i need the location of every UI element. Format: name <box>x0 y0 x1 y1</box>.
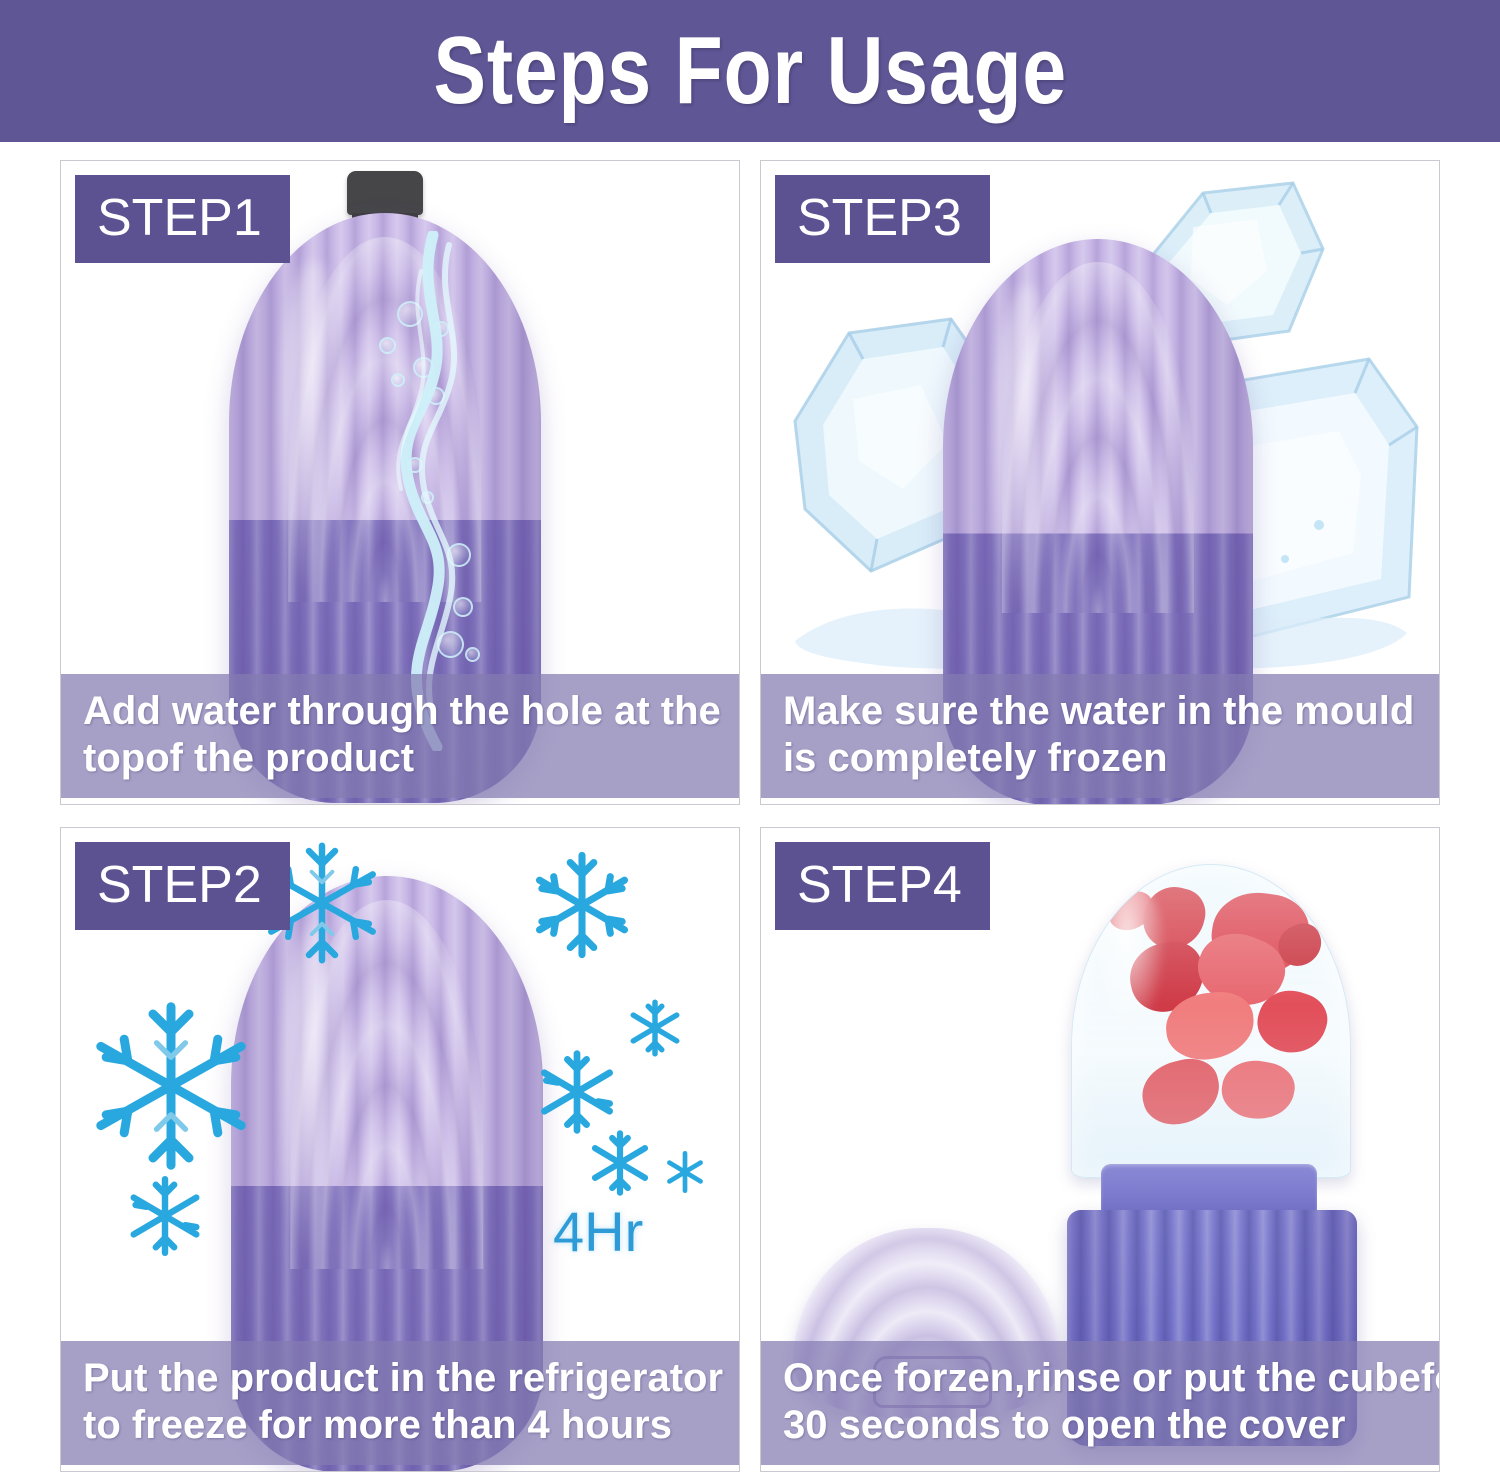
snowflake-icon <box>659 1146 711 1198</box>
step-caption-1-line2: topof the product <box>83 735 717 782</box>
step-caption-3-line1: Make sure the water in the mould <box>783 688 1417 735</box>
step-card-4: STEP4 Once forzen,rinse or put the cubef… <box>760 827 1440 1472</box>
step-caption-2: Put the product in the refrigerator to f… <box>61 1341 739 1465</box>
step-caption-4: Once forzen,rinse or put the cubefor 30 … <box>761 1341 1439 1465</box>
step-caption-2-line1: Put the product in the refrigerator <box>83 1355 717 1402</box>
step-badge-3: STEP3 <box>775 175 990 263</box>
mould-cap-icon <box>347 171 423 215</box>
bubble-icon <box>447 543 471 567</box>
step-caption-4-line1: Once forzen,rinse or put the cubefor <box>783 1355 1417 1402</box>
step-caption-2-line2: to freeze for more than 4 hours <box>83 1402 717 1449</box>
step-badge-4: STEP4 <box>775 842 990 930</box>
step-card-2: 4Hr STEP2 Put the product in the refrige… <box>60 827 740 1472</box>
bubble-icon <box>397 301 423 327</box>
snowflake-icon <box>621 994 689 1062</box>
snowflake-icon <box>581 1124 659 1202</box>
step-badge-1: STEP1 <box>75 175 290 263</box>
step-caption-1-line1: Add water through the hole at the <box>83 688 717 735</box>
step-caption-3: Make sure the water in the mould is comp… <box>761 674 1439 798</box>
step-card-3: STEP3 Make sure the water in the mould i… <box>760 160 1440 805</box>
bubble-icon <box>453 597 473 617</box>
bubble-icon <box>413 357 434 378</box>
bubble-icon <box>427 387 445 405</box>
bubble-icon <box>421 491 434 504</box>
bubble-icon <box>465 647 480 662</box>
mould-highlight <box>993 284 1061 612</box>
step-badge-2: STEP2 <box>75 842 290 930</box>
page-header: Steps For Usage <box>0 0 1500 142</box>
freeze-time-label: 4Hr <box>553 1204 643 1260</box>
step-card-1: STEP1 Add water through the hole at the … <box>60 160 740 805</box>
ice-highlight <box>1100 884 1167 1040</box>
page-title: Steps For Usage <box>433 21 1066 121</box>
step-caption-4-line2: 30 seconds to open the cover <box>783 1402 1417 1449</box>
snowflake-icon <box>119 1170 211 1262</box>
step-caption-3-line2: is completely frozen <box>783 735 1417 782</box>
steps-grid: STEP1 Add water through the hole at the … <box>0 142 1500 1472</box>
snowflake-icon <box>81 996 261 1176</box>
frozen-petal-ice-dome <box>1071 864 1351 1178</box>
bubble-icon <box>433 321 449 337</box>
bubble-icon <box>391 373 405 387</box>
bubble-icon <box>437 631 464 658</box>
snowflake-icon <box>523 846 641 964</box>
step-caption-1: Add water through the hole at the topof … <box>61 674 739 798</box>
bubble-icon <box>379 337 396 354</box>
mould-highlight <box>279 260 348 602</box>
mould-highlight <box>281 924 350 1270</box>
bubble-icon <box>407 457 423 473</box>
